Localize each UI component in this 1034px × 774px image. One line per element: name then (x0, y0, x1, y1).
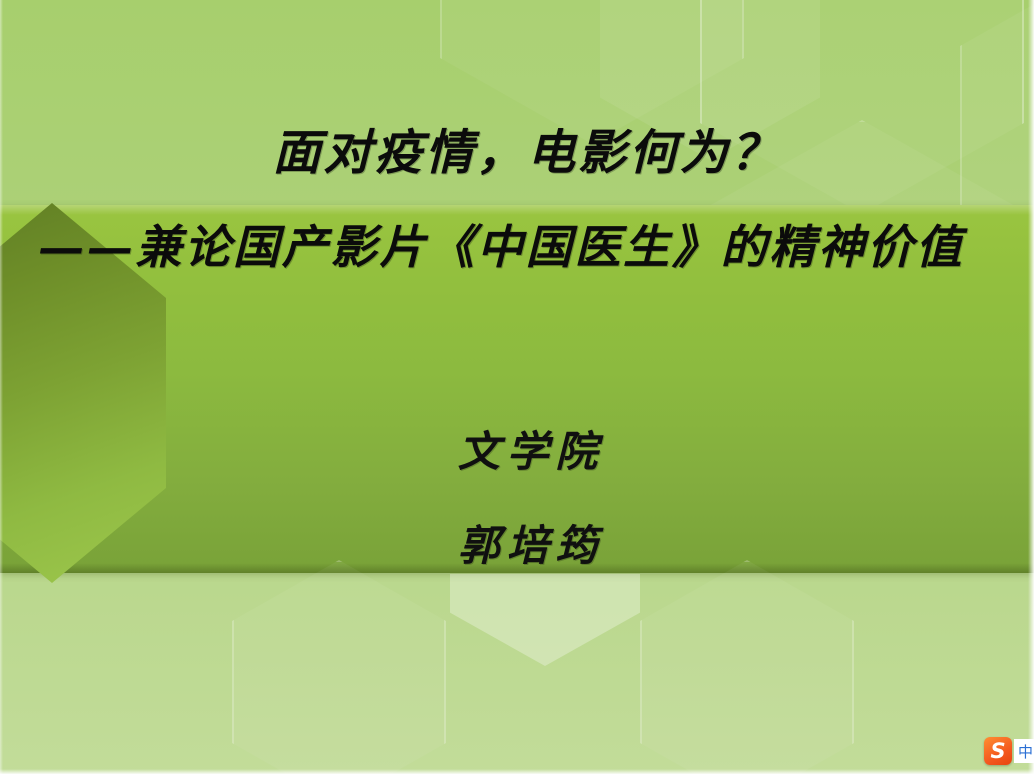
band-sheen (0, 205, 1034, 215)
author-name: 郭培筠 (28, 499, 1034, 593)
slide-edge-left (0, 0, 3, 774)
sogou-logo-icon: S (984, 737, 1012, 765)
slide-edge-bottom (0, 769, 1034, 774)
watermark-text-box: 中 (1014, 739, 1034, 763)
slide-subtitle: ——兼论国产影片《中国医生》的精神价值 (38, 216, 964, 278)
sogou-watermark: S 中 (984, 736, 1034, 766)
author-block: 文学院 郭培筠 (0, 405, 1034, 593)
author-affiliation: 文学院 (28, 405, 1034, 499)
slide-title: 面对疫情，电影何为？ (0, 122, 1034, 184)
slide-edge-right (1028, 0, 1034, 774)
watermark-label: 中 (1018, 741, 1033, 762)
presentation-slide: 面对疫情，电影何为？ ——兼论国产影片《中国医生》的精神价值 文学院 郭培筠 S… (0, 0, 1034, 774)
